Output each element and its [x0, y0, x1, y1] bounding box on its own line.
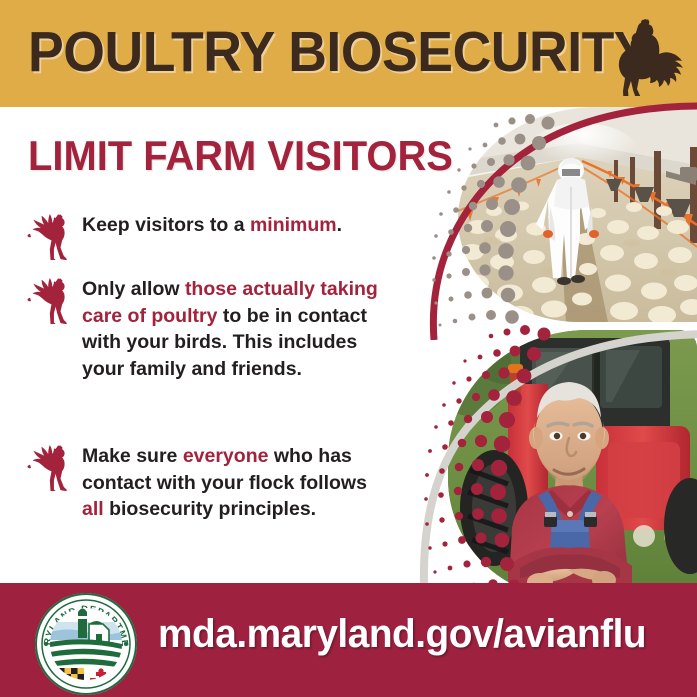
bullet-item-1: Keep visitors to a minimum. [26, 212, 386, 265]
rooster-bullet-icon [26, 276, 78, 329]
bullet-text-2: Only allow those actually taking care of… [78, 276, 386, 382]
bullet-text-1: Keep visitors to a minimum. [78, 212, 342, 239]
header-band: POULTRY BIOSECURITY [0, 0, 697, 107]
bullet-text-3: Make sure everyone who has contact with … [78, 443, 386, 523]
maryland-department-of-agriculture-seal: MARYLAND DEPARTMENT OF AGRICULTURE [34, 592, 138, 696]
website-url[interactable]: mda.maryland.gov/avianflu [158, 611, 646, 657]
page-title: POULTRY BIOSECURITY [28, 22, 649, 82]
poultry-biosecurity-poster: POULTRY BIOSECURITY LIMIT FARM VISITORS … [0, 0, 697, 697]
bullet-3-seg-1: everyone [183, 445, 269, 467]
farmer-tractor-photo [448, 330, 697, 598]
poultry-house-worker-photo [458, 107, 697, 322]
bullet-1-seg-1: minimum [250, 214, 337, 236]
rooster-silhouette-icon [608, 18, 684, 96]
bullet-1-seg-0: Keep visitors to a [82, 214, 250, 236]
bullet-item-3: Make sure everyone who has contact with … [26, 443, 386, 523]
section-heading: LIMIT FARM VISITORS [28, 133, 453, 179]
bullet-1-seg-2: . [337, 214, 342, 236]
bullet-item-2: Only allow those actually taking care of… [26, 276, 386, 382]
rooster-bullet-icon [26, 212, 78, 265]
bullet-3-seg-3: all [82, 498, 104, 520]
bullet-3-seg-4: biosecurity principles. [104, 498, 316, 520]
bullet-2-seg-0: Only allow [82, 278, 185, 300]
rooster-bullet-icon [26, 443, 78, 496]
bullet-3-seg-0: Make sure [82, 445, 183, 467]
